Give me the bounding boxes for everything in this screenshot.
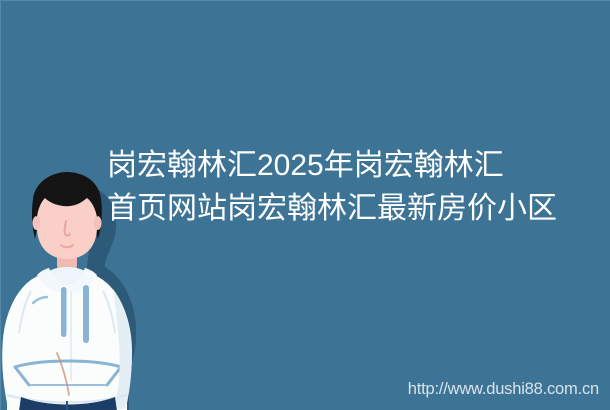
drawstring-left: [61, 287, 67, 337]
ear-right: [94, 216, 102, 230]
headline-line-2: 首页网站岗宏翰林汇最新房价小区: [107, 187, 607, 230]
headline: 岗宏翰林汇2025年岗宏翰林汇 首页网站岗宏翰林汇最新房价小区: [107, 144, 607, 230]
headline-line-1: 岗宏翰林汇2025年岗宏翰林汇: [107, 144, 607, 187]
promo-banner: 岗宏翰林汇2025年岗宏翰林汇 首页网站岗宏翰林汇最新房价小区 http://w…: [0, 0, 610, 410]
drawstring-right: [83, 285, 89, 343]
watermark-url: http://www.dushi88.com.cn: [408, 380, 599, 399]
ear-left: [33, 216, 41, 230]
